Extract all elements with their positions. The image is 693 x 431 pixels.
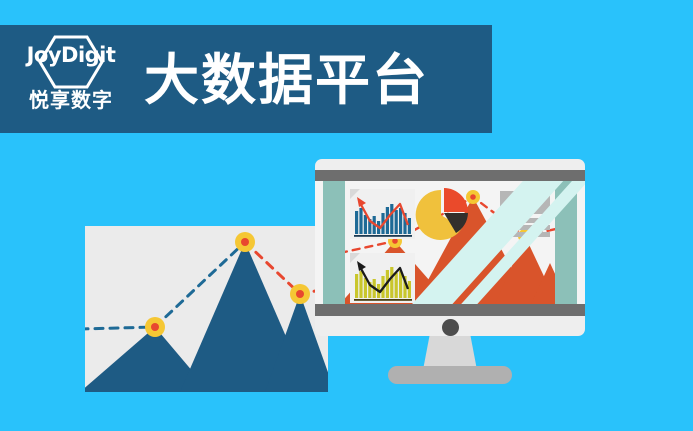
data-point-marker <box>290 284 310 304</box>
data-point-marker <box>235 232 255 252</box>
blue-bar-card <box>350 189 415 239</box>
page-title: 大数据平台 <box>144 53 429 108</box>
arrow-head-icon <box>357 261 366 271</box>
logo-wordmark: JoyDigit <box>12 45 130 66</box>
yellow-bar-card <box>350 253 415 303</box>
yellow-bar-chart <box>354 259 412 301</box>
webcam-icon <box>442 319 459 336</box>
pie-slice-b <box>444 188 468 212</box>
monitor-screen <box>315 181 585 304</box>
data-point-marker <box>145 317 165 337</box>
brand-logo: JoyDigit 悦享数字 <box>12 33 130 125</box>
monitor-stand-neck <box>423 336 477 370</box>
pie-card <box>415 187 471 243</box>
chart-baseline <box>354 235 412 237</box>
poster-canvas: JoyDigit 悦享数字 大数据平台 <box>0 0 693 431</box>
left-mountain-chart <box>85 226 328 392</box>
monitor-stand-base <box>388 366 512 384</box>
header-banner: JoyDigit 悦享数字 大数据平台 <box>0 25 492 133</box>
logo-chinese-name: 悦享数字 <box>12 91 130 111</box>
monitor-bottom-bezel <box>315 304 585 316</box>
arrow-head-icon <box>357 197 366 207</box>
screen-side-band-left <box>323 181 345 304</box>
chart-baseline <box>354 299 412 301</box>
left-chart-panel <box>85 226 328 392</box>
monitor-top-bezel <box>315 170 585 181</box>
blue-bar-chart <box>354 195 412 237</box>
monitor-illustration <box>315 159 585 336</box>
